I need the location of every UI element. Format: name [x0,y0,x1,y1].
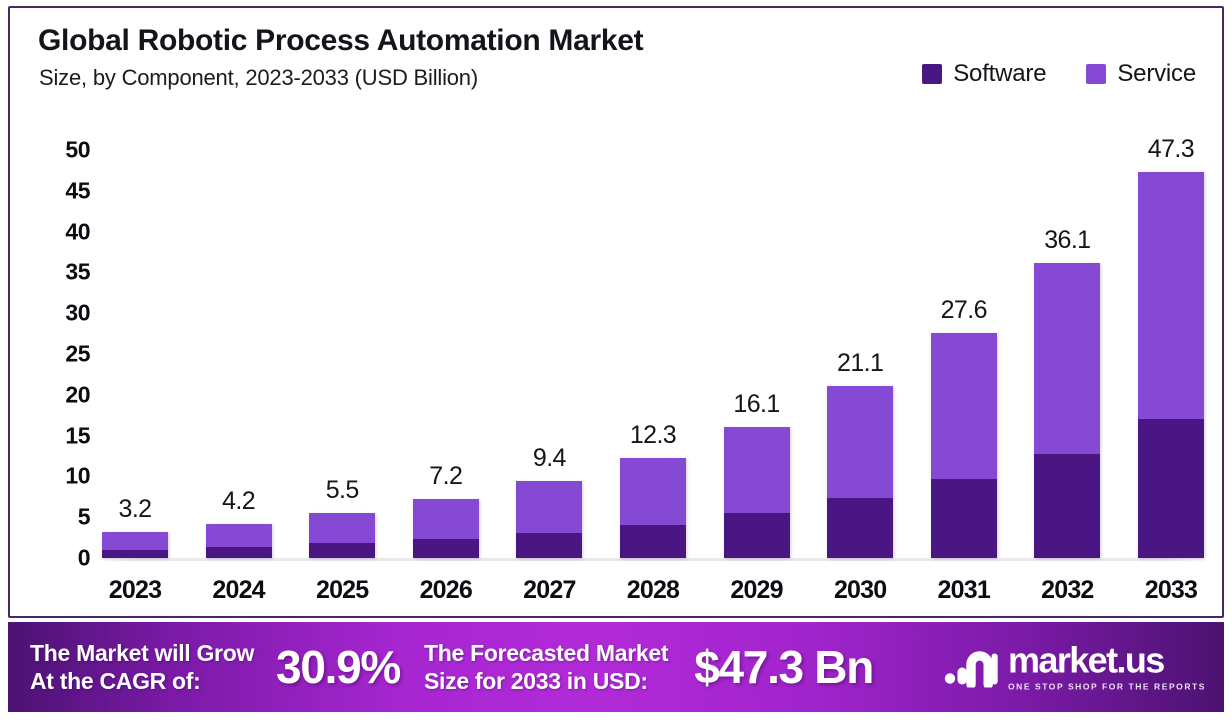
bar-value-label: 27.6 [941,296,987,325]
cagr-value: 30.9% [276,640,400,694]
bar-value-label: 21.1 [837,349,883,378]
bar-value-label: 9.4 [533,444,566,473]
legend-item-service[interactable]: Service [1086,60,1196,88]
bar-segment-software[interactable] [931,479,997,558]
bar-stack[interactable] [206,524,272,558]
y-axis-tick: 5 [78,504,90,531]
bar-group[interactable]: 21.1 [827,108,893,558]
x-axis-tick: 2030 [827,576,893,605]
bar-segment-software[interactable] [309,543,375,558]
bar-stack[interactable] [102,532,168,558]
bar-value-label: 7.2 [429,462,462,491]
bar-group[interactable]: 3.2 [102,108,168,558]
summary-footer: The Market will Grow At the CAGR of: 30.… [8,622,1224,712]
bar-segment-service[interactable] [309,513,375,543]
bar-segment-software[interactable] [827,498,893,558]
brand-logo[interactable]: market.us ONE STOP SHOP FOR THE REPORTS [944,643,1206,692]
bar-segment-software[interactable] [413,539,479,558]
forecast-caption: The Forecasted Market Size for 2033 in U… [424,639,668,695]
x-axis-tick: 2025 [309,576,375,605]
bar-value-label: 47.3 [1148,135,1194,164]
legend-item-software[interactable]: Software [922,60,1046,88]
x-axis-baseline [96,558,1208,561]
bar-segment-service[interactable] [516,481,582,532]
bar-group[interactable]: 27.6 [931,108,997,558]
bar-segment-software[interactable] [620,525,686,558]
y-axis-tick: 0 [78,545,90,572]
brand-name: market.us [1008,643,1164,679]
y-axis-tick: 45 [65,177,90,204]
chart-header: Global Robotic Process Automation Market… [10,8,1222,108]
cagr-block: The Market will Grow At the CAGR of: 30.… [8,639,400,695]
bar-segment-software[interactable] [724,513,790,558]
bar-stack[interactable] [620,458,686,558]
chart-card: Global Robotic Process Automation Market… [8,6,1224,618]
y-axis: 50454035302520151050 [10,108,102,618]
x-axis-tick: 2028 [620,576,686,605]
x-axis-tick: 2032 [1034,576,1100,605]
y-axis-tick: 35 [65,259,90,286]
bar-segment-service[interactable] [931,333,997,479]
chart-subtitle: Size, by Component, 2023-2033 (USD Billi… [39,65,478,91]
market-us-logo-icon [944,647,998,687]
bar-stack[interactable] [516,481,582,558]
y-axis-tick: 10 [65,463,90,490]
bar-group[interactable]: 36.1 [1034,108,1100,558]
bar-segment-service[interactable] [827,386,893,499]
bar-segment-software[interactable] [102,550,168,558]
forecast-caption-line2: Size for 2033 in USD: [424,668,648,694]
x-axis-tick: 2029 [724,576,790,605]
y-axis-tick: 50 [65,137,90,164]
x-axis: 2023202420252026202720282029203020312032… [102,576,1204,605]
bar-segment-service[interactable] [620,458,686,525]
cagr-caption: The Market will Grow At the CAGR of: [30,639,254,695]
bar-group[interactable]: 12.3 [620,108,686,558]
bar-segment-service[interactable] [1138,172,1204,419]
infographic-root: Global Robotic Process Automation Market… [0,0,1232,720]
bar-segment-service[interactable] [413,499,479,539]
cagr-caption-line1: The Market will Grow [30,640,254,666]
forecast-block: The Forecasted Market Size for 2033 in U… [400,639,873,695]
brand-tagline: ONE STOP SHOP FOR THE REPORTS [1008,682,1206,692]
legend-label-service: Service [1117,60,1196,88]
bar-value-label: 4.2 [222,487,255,516]
bar-group[interactable]: 7.2 [413,108,479,558]
brand-text: market.us ONE STOP SHOP FOR THE REPORTS [1008,643,1206,692]
bar-segment-service[interactable] [1034,263,1100,453]
bar-value-label: 16.1 [733,390,779,419]
x-axis-tick: 2033 [1138,576,1204,605]
bar-stack[interactable] [931,333,997,558]
bar-group[interactable]: 4.2 [206,108,272,558]
bar-segment-software[interactable] [1138,419,1204,558]
legend-swatch-service-icon [1086,64,1106,84]
bar-segment-software[interactable] [206,547,272,558]
y-axis-tick: 20 [65,381,90,408]
y-axis-tick: 40 [65,218,90,245]
y-axis-tick: 30 [65,300,90,327]
bar-stack[interactable] [1138,172,1204,558]
bar-segment-service[interactable] [206,524,272,548]
legend-swatch-software-icon [922,64,942,84]
bar-segment-service[interactable] [724,427,790,513]
bar-stack[interactable] [827,386,893,558]
bar-value-label: 5.5 [326,476,359,505]
y-axis-tick: 25 [65,341,90,368]
bar-stack[interactable] [309,513,375,558]
bar-segment-service[interactable] [102,532,168,550]
x-axis-tick: 2027 [516,576,582,605]
x-axis-tick: 2031 [931,576,997,605]
forecast-caption-line1: The Forecasted Market [424,640,668,666]
chart-legend: Software Service [922,60,1196,88]
bar-value-label: 36.1 [1044,226,1090,255]
bar-group[interactable]: 47.3 [1138,108,1204,558]
chart-title: Global Robotic Process Automation Market [38,24,643,58]
forecast-value: $47.3 Bn [694,640,873,694]
bar-segment-software[interactable] [516,533,582,558]
cagr-caption-line2: At the CAGR of: [30,668,201,694]
bar-value-label: 3.2 [119,495,152,524]
x-axis-tick: 2024 [206,576,272,605]
bar-group[interactable]: 16.1 [724,108,790,558]
bar-series-container: 3.24.25.57.29.412.316.121.127.636.147.3 [102,108,1204,558]
bar-value-label: 12.3 [630,421,676,450]
x-axis-tick: 2023 [102,576,168,605]
bar-segment-software[interactable] [1034,454,1100,558]
bar-group[interactable]: 5.5 [309,108,375,558]
bar-stack[interactable] [724,427,790,558]
bar-stack[interactable] [1034,263,1100,558]
bar-group[interactable]: 9.4 [516,108,582,558]
x-axis-tick: 2026 [413,576,479,605]
bar-stack[interactable] [413,499,479,558]
legend-label-software: Software [953,60,1046,88]
chart-plot-area: 50454035302520151050 3.24.25.57.29.412.3… [10,108,1222,618]
y-axis-tick: 15 [65,422,90,449]
